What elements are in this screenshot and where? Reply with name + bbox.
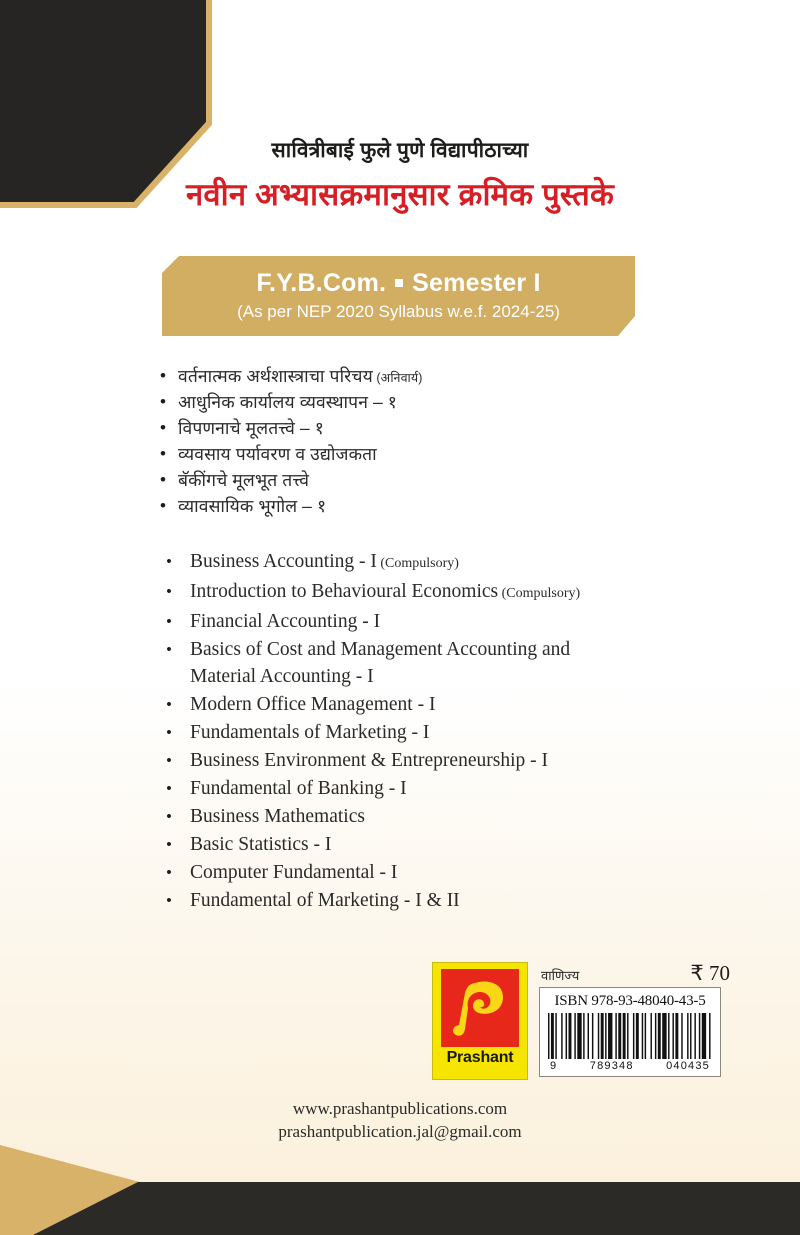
book-title: Computer Fundamental - I — [190, 859, 397, 886]
book-list-item: •Business Environment & Entrepreneurship… — [148, 747, 768, 774]
bullet-icon: • — [148, 747, 190, 774]
contact-block: www.prashantpublications.com prashantpub… — [0, 1098, 800, 1144]
book-title: वर्तनात्मक अर्थशास्त्राचा परिचय (अनिवार्… — [178, 363, 423, 391]
barcode-box: ISBN 978-93-48040-43-5 9 789348 040435 — [539, 987, 721, 1077]
course-banner: F.Y.B.Com.Semester I (As per NEP 2020 Sy… — [162, 256, 635, 336]
book-list-item: •Computer Fundamental - I — [148, 859, 768, 886]
semester-label: Semester I — [412, 269, 540, 297]
bullet-icon: • — [148, 775, 190, 802]
barcode-left-digit: 9 — [550, 1060, 557, 1072]
book-list-item: •Fundamental of Banking - I — [148, 775, 768, 802]
book-title: Modern Office Management - I — [190, 691, 435, 718]
email-text: prashantpublication.jal@gmail.com — [0, 1121, 800, 1144]
book-note: (अनिवार्य) — [373, 371, 423, 385]
book-list-item: •आधुनिक कार्यालय व्यवस्थापन – १ — [148, 389, 768, 415]
bullet-icon: • — [148, 467, 178, 493]
book-title: Business Mathematics — [190, 803, 365, 830]
stylized-p-icon — [441, 969, 519, 1047]
barcode-digits: 9 789348 040435 — [548, 1059, 712, 1072]
book-title: Introduction to Behavioural Economics (C… — [190, 578, 580, 607]
bullet-icon: • — [148, 389, 178, 415]
course-banner-title: F.Y.B.Com.Semester I — [256, 270, 540, 298]
bullet-icon: • — [148, 831, 190, 858]
book-title: व्यवसाय पर्यावरण व उद्योजकता — [178, 441, 377, 467]
book-title: Business Environment & Entrepreneurship … — [190, 747, 548, 774]
book-list-item: •बॅकींगचे मूलभूत तत्त्वे — [148, 467, 768, 493]
bullet-icon: • — [148, 441, 178, 467]
book-list-item: •Business Mathematics — [148, 803, 768, 830]
bullet-icon: • — [148, 887, 190, 914]
book-title: Fundamental of Marketing - I & II — [190, 887, 460, 914]
bullet-icon: • — [148, 578, 190, 605]
bullet-icon: • — [148, 548, 190, 575]
headline: नवीन अभ्यासक्रमानुसार क्रमिक पुस्तके — [0, 176, 800, 214]
isbn-number: ISBN 978-93-48040-43-5 — [548, 993, 712, 1010]
book-list-item: •Business Accounting - I (Compulsory) — [148, 548, 768, 577]
book-title: Financial Accounting - I — [190, 608, 380, 635]
book-list-item: •Modern Office Management - I — [148, 691, 768, 718]
barcode-group-2: 040435 — [666, 1060, 710, 1072]
book-title: व्यावसायिक भूगोल – १ — [178, 493, 326, 519]
bullet-icon: • — [148, 803, 190, 830]
publisher-name: Prashant — [447, 1050, 514, 1066]
book-title: आधुनिक कार्यालय व्यवस्थापन – १ — [178, 389, 397, 415]
bullet-icon: • — [148, 719, 190, 746]
book-note: (Compulsory) — [498, 586, 580, 601]
bullet-icon: • — [148, 636, 190, 663]
book-title: Fundamental of Banking - I — [190, 775, 407, 802]
book-title: बॅकींगचे मूलभूत तत्त्वे — [178, 467, 309, 493]
isbn-column: वाणिज्य ₹ 70 ISBN 978-93-48040-43-5 9 78… — [539, 962, 732, 1077]
bullet-icon: • — [148, 415, 178, 441]
book-list-item: •विपणनाचे मूलतत्त्वे – १ — [148, 415, 768, 441]
barcode-icon — [548, 1013, 712, 1059]
book-list-item: •व्यावसायिक भूगोल – १ — [148, 493, 768, 519]
cover-header: सावित्रीबाई फुले पुणे विद्यापीठाच्या नवी… — [0, 138, 800, 214]
book-back-cover: सावित्रीबाई फुले पुणे विद्यापीठाच्या नवी… — [0, 0, 800, 1235]
university-line: सावित्रीबाई फुले पुणे विद्यापीठाच्या — [0, 138, 800, 164]
website-text: www.prashantpublications.com — [0, 1098, 800, 1121]
bullet-icon: • — [148, 363, 178, 389]
square-bullet-icon — [395, 279, 403, 287]
publisher-logo: Prashant — [432, 962, 528, 1080]
book-title: Fundamentals of Marketing - I — [190, 719, 429, 746]
syllabus-note: (As per NEP 2020 Syllabus w.e.f. 2024-25… — [237, 302, 560, 322]
bullet-icon: • — [148, 493, 178, 519]
book-list-item: •वर्तनात्मक अर्थशास्त्राचा परिचय (अनिवार… — [148, 363, 768, 389]
book-list-item: •Basic Statistics - I — [148, 831, 768, 858]
price-label: ₹ 70 — [690, 962, 730, 985]
logo-mark — [441, 969, 519, 1047]
book-title: विपणनाचे मूलतत्त्वे – १ — [178, 415, 324, 441]
english-book-list: •Business Accounting - I (Compulsory)•In… — [148, 548, 768, 915]
book-list-item: •Fundamental of Marketing - I & II — [148, 887, 768, 914]
book-note: (Compulsory) — [377, 556, 459, 571]
book-list-item: •Introduction to Behavioural Economics (… — [148, 578, 768, 607]
bullet-icon: • — [148, 608, 190, 635]
book-list-item: •Basics of Cost and Management Accountin… — [148, 636, 768, 690]
book-list-item: •Financial Accounting - I — [148, 608, 768, 635]
category-label: वाणिज्य — [541, 969, 579, 983]
footer-block: Prashant वाणिज्य ₹ 70 ISBN 978-93-48040-… — [432, 962, 732, 1080]
course-label: F.Y.B.Com. — [256, 269, 386, 297]
book-list-item: •व्यवसाय पर्यावरण व उद्योजकता — [148, 441, 768, 467]
bullet-icon: • — [148, 859, 190, 886]
book-title: Business Accounting - I (Compulsory) — [190, 548, 459, 577]
book-title: Basic Statistics - I — [190, 831, 331, 858]
marathi-book-list: •वर्तनात्मक अर्थशास्त्राचा परिचय (अनिवार… — [148, 363, 768, 519]
book-title: Basics of Cost and Management Accounting… — [190, 636, 590, 690]
barcode-group-1: 789348 — [590, 1060, 634, 1072]
bullet-icon: • — [148, 691, 190, 718]
book-list-item: •Fundamentals of Marketing - I — [148, 719, 768, 746]
